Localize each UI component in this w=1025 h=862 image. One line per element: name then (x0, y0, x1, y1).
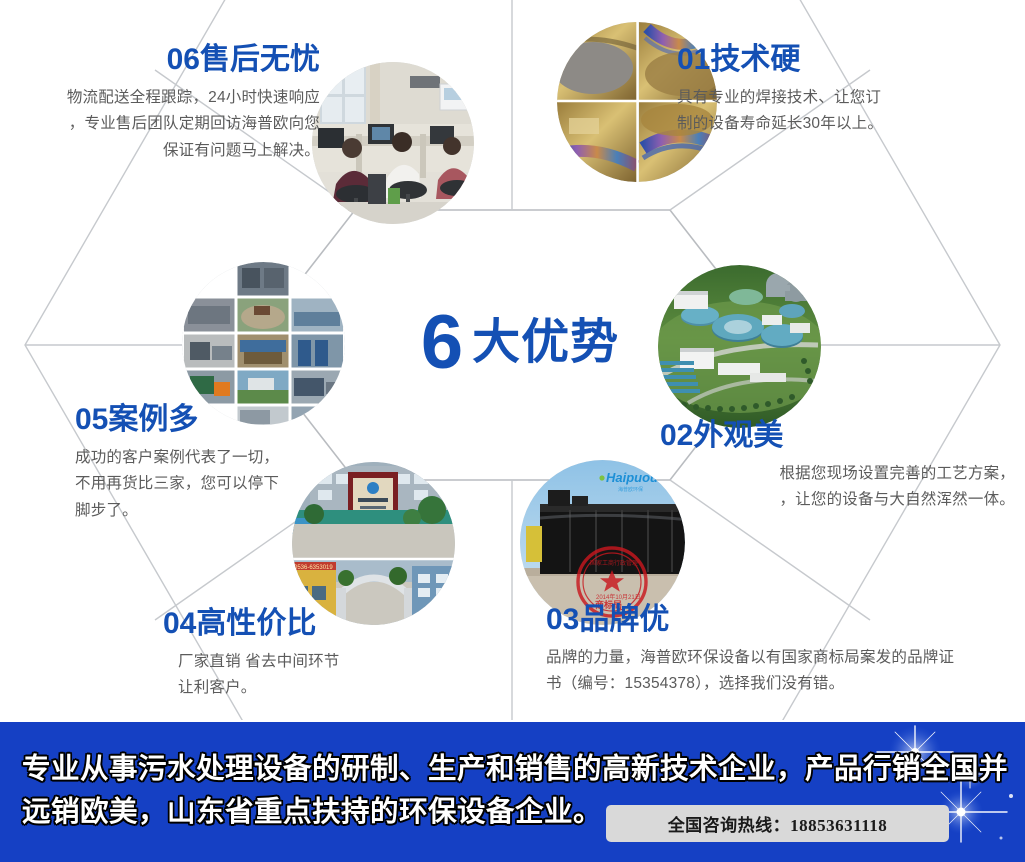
feature-05-body-line-1: 成功的客户案例代表了一切， (75, 445, 375, 472)
feature-03-body-line-1: 品牌的力量，海普欧环保设备以有国家商标局案发的品牌证 (546, 645, 1016, 672)
feature-02-body-line-2: ，让您的设备与大自然浑然一体。 (660, 487, 1015, 514)
feature-01: 01技术硬 具有专业的焊接技术、让您订 制的设备寿命延长30年以上。 (677, 44, 1007, 138)
feature-03-body: 品牌的力量，海普欧环保设备以有国家商标局案发的品牌证 书（编号：15354378… (546, 645, 1016, 698)
center-number: 6 (421, 305, 462, 381)
svg-text:Haipuou: Haipuou (606, 470, 658, 485)
feature-01-body: 具有专业的焊接技术、让您订 制的设备寿命延长30年以上。 (677, 85, 1007, 138)
feature-06: 06售后无忧 物流配送全程跟踪，24小时快速响应 ，专业售后团队定期回访海普欧向… (20, 44, 320, 164)
feature-05-body-line-2: 不用再货比三家，您可以停下 (75, 471, 375, 498)
feature-02-body-line-1: 根据您现场设置完善的工艺方案， (660, 461, 1015, 488)
feature-01-heading: 01技术硬 (677, 44, 1007, 76)
feature-05-body-line-3: 脚步了。 (75, 498, 375, 525)
feature-04-body-line-1: 厂家直销 省去中间环节 (178, 649, 473, 676)
feature-02-heading: 02外观美 (660, 420, 1015, 452)
photo-02-wastewater-plant-aerial-view (658, 265, 821, 428)
feature-06-body-line-3: 保证有问题马上解决。 (20, 138, 320, 165)
feature-02: 02外观美 根据您现场设置完善的工艺方案， ，让您的设备与大自然浑然一体。 (660, 420, 1015, 514)
center-label-text: 大优势 (472, 319, 619, 367)
photo-03-equipment-with-trademark-stamp: Haipuou 海普欧环保 商标局 国家工商行政管理 2014年10月21日 (520, 460, 685, 625)
feature-03-body-line-2: 书（编号：15354378），选择我们没有错。 (546, 671, 1016, 698)
feature-04: 04高性价比 厂家直销 省去中间环节 让利客户。 (163, 608, 473, 702)
svg-text:海普欧环保: 海普欧环保 (618, 486, 643, 493)
photo-06-office-staff-at-computers (312, 62, 474, 224)
svg-text:国家工商行政管理: 国家工商行政管理 (590, 559, 638, 567)
feature-05-heading: 05案例多 (75, 404, 375, 436)
photo-05-project-cases-photo-grid (182, 262, 345, 425)
feature-01-body-line-1: 具有专业的焊接技术、让您订 (677, 85, 1007, 112)
banner-line-1: 专业从事污水处理设备的研制、生产和销售的高新技术企业，产品行销全国并 (22, 748, 922, 791)
feature-03-heading: 03品牌优 (546, 604, 1016, 636)
feature-04-body: 厂家直销 省去中间环节 让利客户。 (163, 649, 473, 702)
feature-02-body: 根据您现场设置完善的工艺方案， ，让您的设备与大自然浑然一体。 (660, 461, 1015, 514)
feature-06-body-line-1: 物流配送全程跟踪，24小时快速响应 (20, 85, 320, 112)
feature-05-body: 成功的客户案例代表了一切， 不用再货比三家，您可以停下 脚步了。 (75, 445, 375, 525)
center-title: 6 大优势 (390, 295, 650, 390)
feature-04-body-line-2: 让利客户。 (178, 675, 473, 702)
feature-03: 03品牌优 品牌的力量，海普欧环保设备以有国家商标局案发的品牌证 书（编号：15… (546, 604, 1016, 698)
feature-06-body-line-2: ，专业售后团队定期回访海普欧向您 (20, 111, 320, 138)
feature-06-heading: 06售后无忧 (20, 44, 320, 76)
hotline-box[interactable]: 全国咨询热线：18853631118 (606, 805, 949, 842)
hotline-text: 全国咨询热线：18853631118 (668, 811, 888, 836)
svg-text:0536-6353019: 0536-6353019 (294, 565, 333, 571)
feature-01-body-line-2: 制的设备寿命延长30年以上。 (677, 111, 1007, 138)
feature-06-body: 物流配送全程跟踪，24小时快速响应 ，专业售后团队定期回访海普欧向您 保证有问题… (20, 85, 320, 165)
six-advantages-infographic: 6 大优势 (0, 0, 1025, 862)
feature-04-heading: 04高性价比 (163, 608, 473, 640)
svg-text:2014年10月21日: 2014年10月21日 (596, 593, 641, 601)
feature-05: 05案例多 成功的客户案例代表了一切， 不用再货比三家，您可以停下 脚步了。 (75, 404, 375, 524)
